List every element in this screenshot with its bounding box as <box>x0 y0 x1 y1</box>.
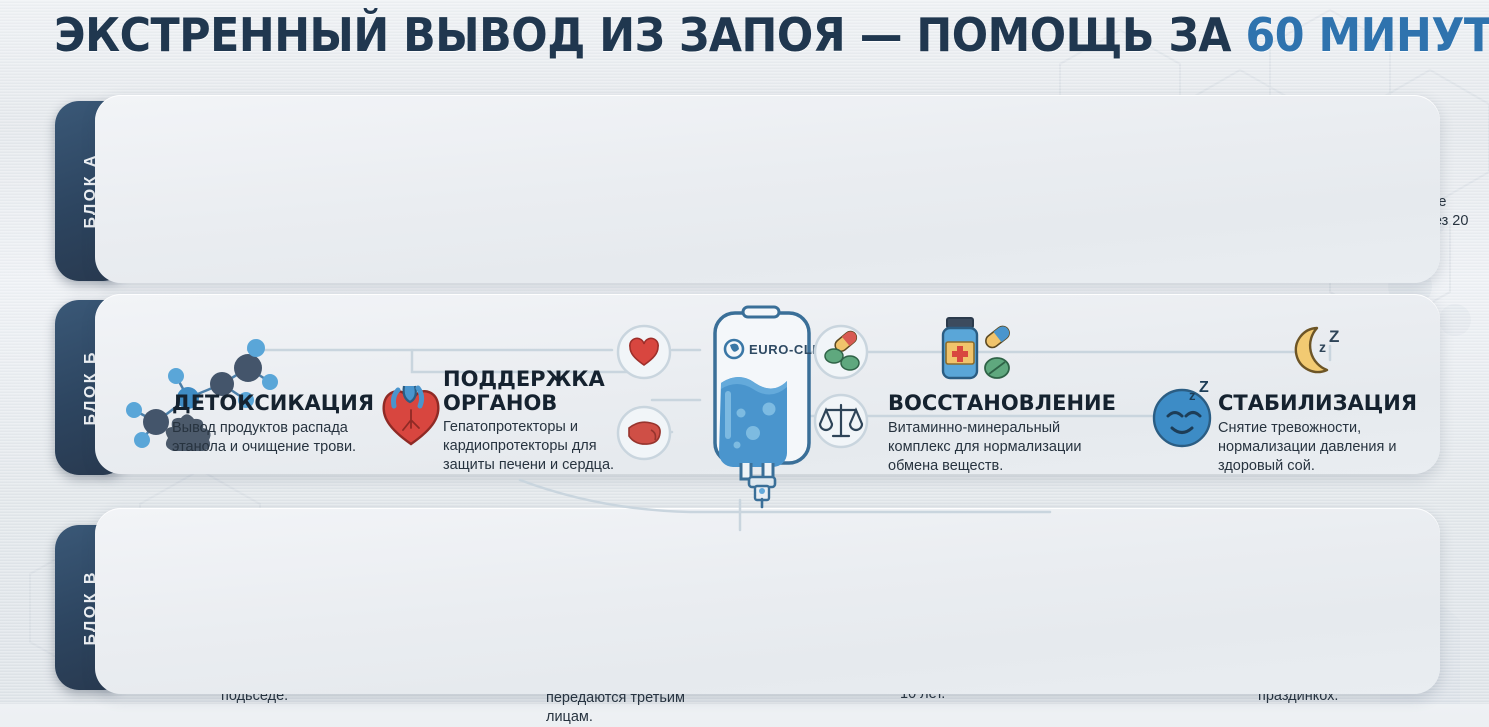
ingredient-3-label: ВОССТАНОВЛЕНИЕ <box>888 392 1103 416</box>
svg-text:Z: Z <box>1329 327 1339 346</box>
satellite-pills-bubble <box>812 323 870 381</box>
block-c <box>95 508 1440 694</box>
svg-text:z: z <box>1319 339 1326 355</box>
medicine-bottle-pills-icon <box>935 312 1027 390</box>
ingredient-1-label: ДЕТОКСИКАЦИЯ <box>172 392 357 416</box>
ingredient-4-text: Снятие тревожности, нормализации давлени… <box>1218 419 1413 476</box>
iv-bag-icon: EURO-CLINIC <box>697 305 827 510</box>
block-a <box>95 95 1440 283</box>
sleeping-face-icon: z Z <box>1150 380 1224 450</box>
ingredient-1-text: Вывод продуктов распада этанола и очищен… <box>172 419 357 457</box>
moon-sleep-icon: z Z <box>1283 322 1349 378</box>
ingredient-3-text: Витаминно-минеральный комплекс для норма… <box>888 419 1103 476</box>
ingredient-4-label: СТАБИЛИЗАЦИЯ <box>1218 392 1413 416</box>
satellite-scales-bubble <box>812 392 870 450</box>
heart-icon <box>378 376 444 450</box>
svg-text:z: z <box>1189 388 1196 403</box>
ingredient-4: СТАБИЛИЗАЦИЯ Снятие тревожности, нормали… <box>1218 392 1413 476</box>
ingredient-3: ВОССТАНОВЛЕНИЕ Витаминно-минеральный ком… <box>888 392 1103 476</box>
ingredient-2: ПОДДЕРЖКА ОРГАНОВ Гепатопротекторы и кар… <box>443 368 628 475</box>
page-title-accent: 60 МИНУТ <box>1246 8 1489 62</box>
svg-text:Z: Z <box>1199 380 1209 396</box>
ingredient-2-label: ПОДДЕРЖКА ОРГАНОВ <box>443 368 628 415</box>
ingredient-1: ДЕТОКСИКАЦИЯ Вывод продуктов распада эта… <box>172 392 357 457</box>
page-title: ЭКСТРЕННЫЙ ВЫВОД ИЗ ЗАПОЯ — ПОМОЩЬ ЗА 60… <box>0 8 1489 62</box>
page-title-main: ЭКСТРЕННЫЙ ВЫВОД ИЗ ЗАПОЯ — ПОМОЩЬ ЗА <box>54 8 1245 62</box>
ingredient-2-text: Гепатопротекторы и кардиопротекторы для … <box>443 418 628 475</box>
